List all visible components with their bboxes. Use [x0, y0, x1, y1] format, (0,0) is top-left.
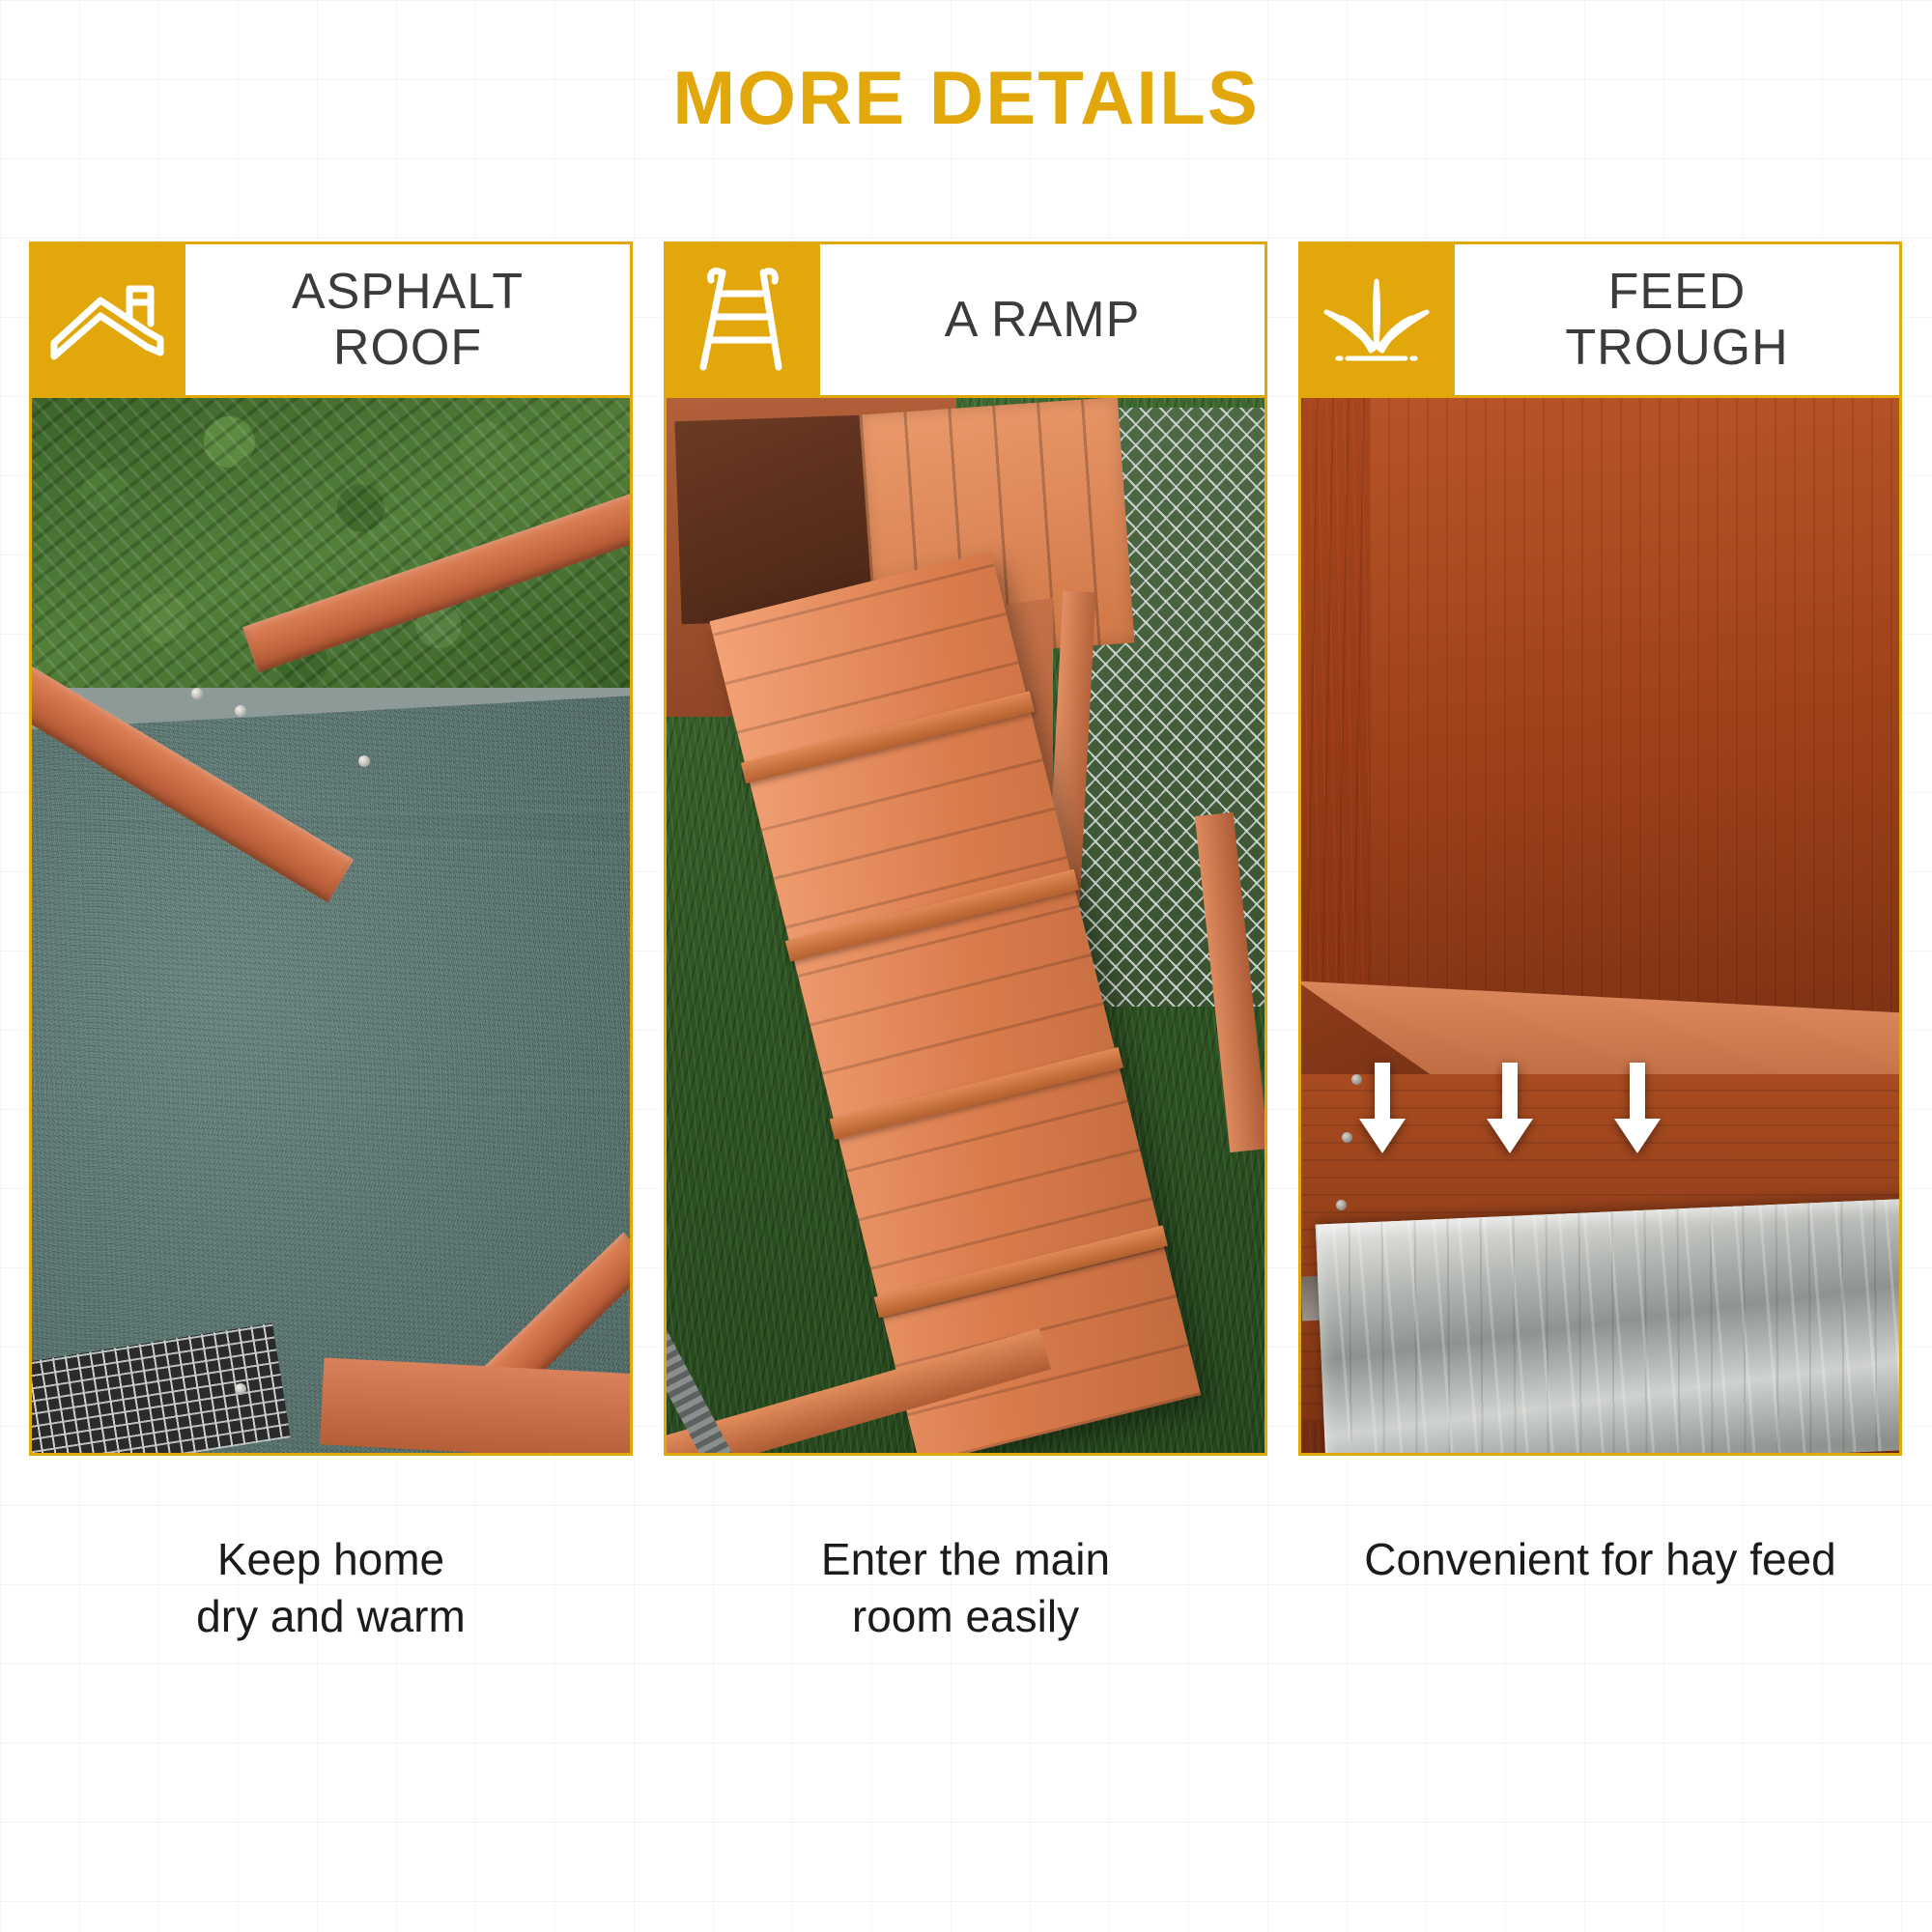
card-caption-asphalt-roof: Keep home dry and warm: [29, 1531, 633, 1645]
wood-railing: [320, 1357, 633, 1456]
ladder-icon: [664, 241, 820, 398]
screw: [1336, 1200, 1347, 1210]
card-label-feed-trough: FEED TROUGH: [1565, 264, 1788, 376]
screw: [358, 755, 370, 767]
card-caption-ramp: Enter the main room easily: [664, 1531, 1267, 1645]
card-photo-ramp: [664, 398, 1267, 1456]
ramp-rung: [741, 691, 1035, 783]
trough-inner-panel: [1369, 398, 1899, 1036]
details-card-row: ASPHALT ROOF Keep home dry and: [29, 241, 1903, 1645]
metal-feed-trough: [1316, 1199, 1902, 1456]
card-label-box-ramp: A RAMP: [820, 241, 1267, 398]
down-arrow-icon: [1357, 1063, 1407, 1155]
card-label-box-asphalt-roof: ASPHALT ROOF: [185, 241, 633, 398]
card-label-box-feed-trough: FEED TROUGH: [1455, 241, 1902, 398]
card-photo-feed-trough: [1298, 398, 1902, 1456]
card-photo-asphalt-roof: [29, 398, 633, 1456]
card-header-feed-trough: FEED TROUGH: [1298, 241, 1902, 398]
page-title: MORE DETAILS: [0, 60, 1932, 135]
card-label-asphalt-roof: ASPHALT ROOF: [292, 264, 524, 376]
detail-card-ramp: A RAMP: [664, 241, 1267, 1645]
down-arrow-icon: [1612, 1063, 1662, 1155]
card-header-ramp: A RAMP: [664, 241, 1267, 398]
detail-card-feed-trough: FEED TROUGH: [1298, 241, 1902, 1645]
detail-card-asphalt-roof: ASPHALT ROOF Keep home dry and: [29, 241, 633, 1645]
grass-icon: [1298, 241, 1455, 398]
down-arrow-icon: [1485, 1063, 1535, 1155]
screw: [191, 688, 203, 699]
ramp-rung: [830, 1047, 1123, 1140]
card-label-ramp: A RAMP: [945, 292, 1141, 348]
screw: [235, 705, 246, 717]
screw: [235, 1383, 246, 1395]
card-caption-feed-trough: Convenient for hay feed: [1298, 1531, 1902, 1588]
ramp-rung: [785, 869, 1079, 962]
card-header-asphalt-roof: ASPHALT ROOF: [29, 241, 633, 398]
screw: [1342, 1132, 1352, 1143]
roof-icon: [29, 241, 185, 398]
ramp-rung: [874, 1225, 1168, 1318]
